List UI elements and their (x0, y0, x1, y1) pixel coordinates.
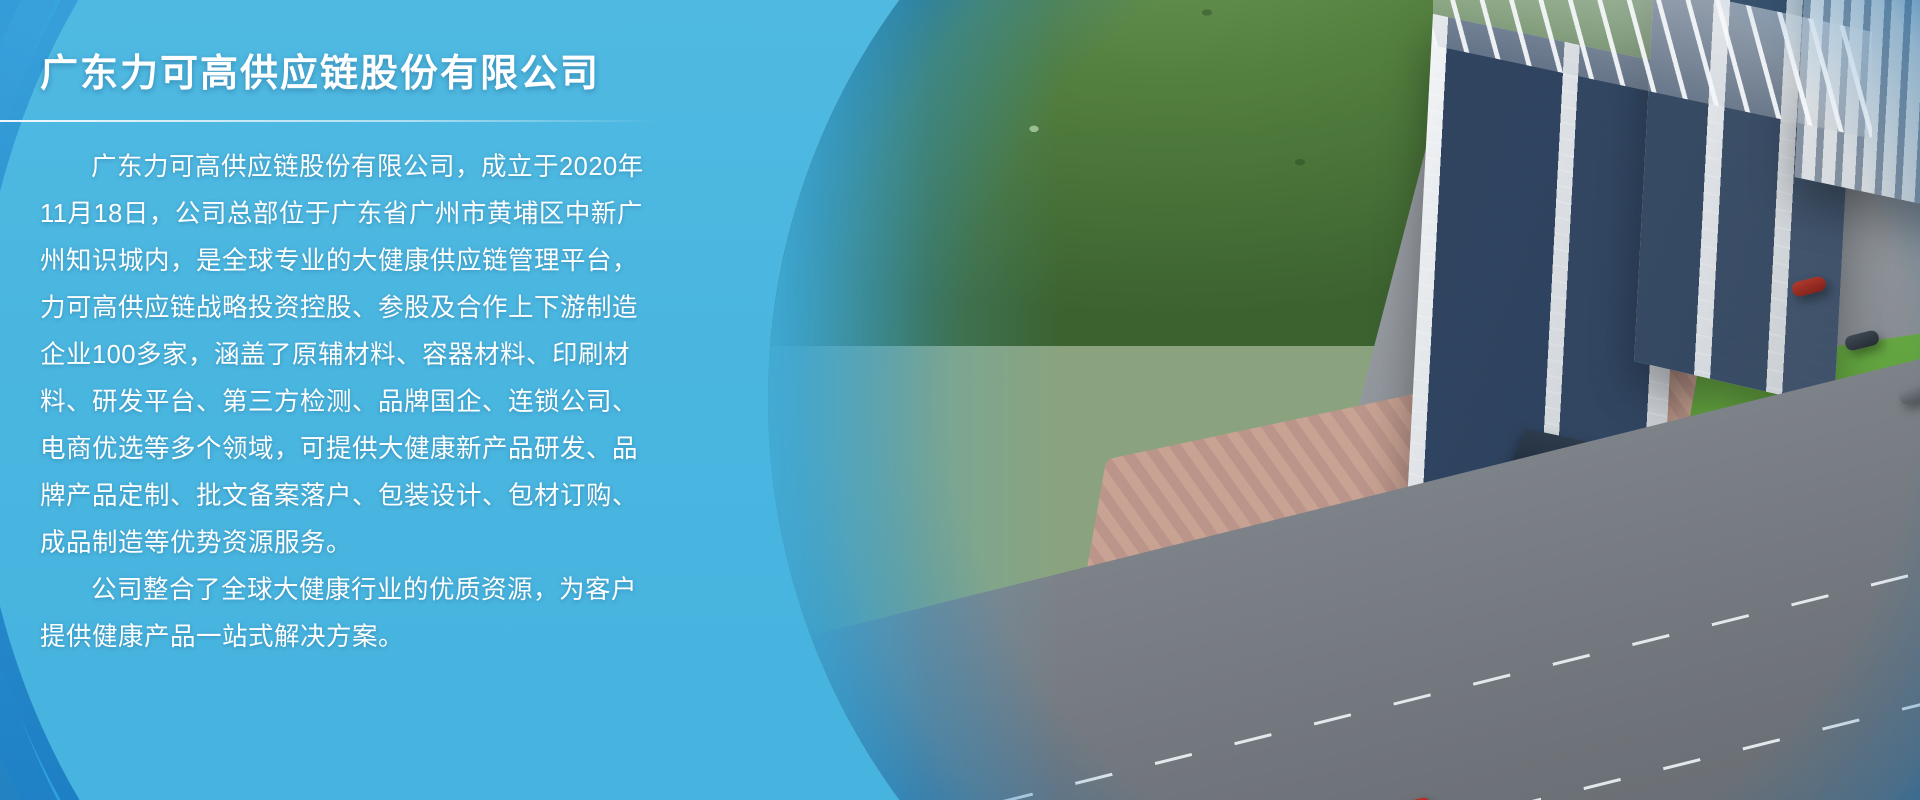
title-divider (0, 120, 660, 122)
description-paragraph-2: 公司整合了全球大健康行业的优质资源，为客户提供健康产品一站式解决方案。 (40, 567, 660, 661)
text-panel: 广东力可高供应链股份有限公司 广东力可高供应链股份有限公司，成立于2020年11… (0, 0, 660, 800)
page-title: 广东力可高供应链股份有限公司 (40, 52, 620, 98)
photo-left-blend (768, 0, 1061, 800)
company-description: 广东力可高供应链股份有限公司，成立于2020年11月18日，公司总部位于广东省广… (40, 144, 660, 661)
aerial-industrial-park-photo (768, 0, 1920, 800)
circular-photo-mask (768, 0, 1920, 800)
description-paragraph-1: 广东力可高供应链股份有限公司，成立于2020年11月18日，公司总部位于广东省广… (40, 144, 660, 567)
company-profile-banner: 广东力可高供应链股份有限公司 广东力可高供应链股份有限公司，成立于2020年11… (0, 0, 1920, 800)
